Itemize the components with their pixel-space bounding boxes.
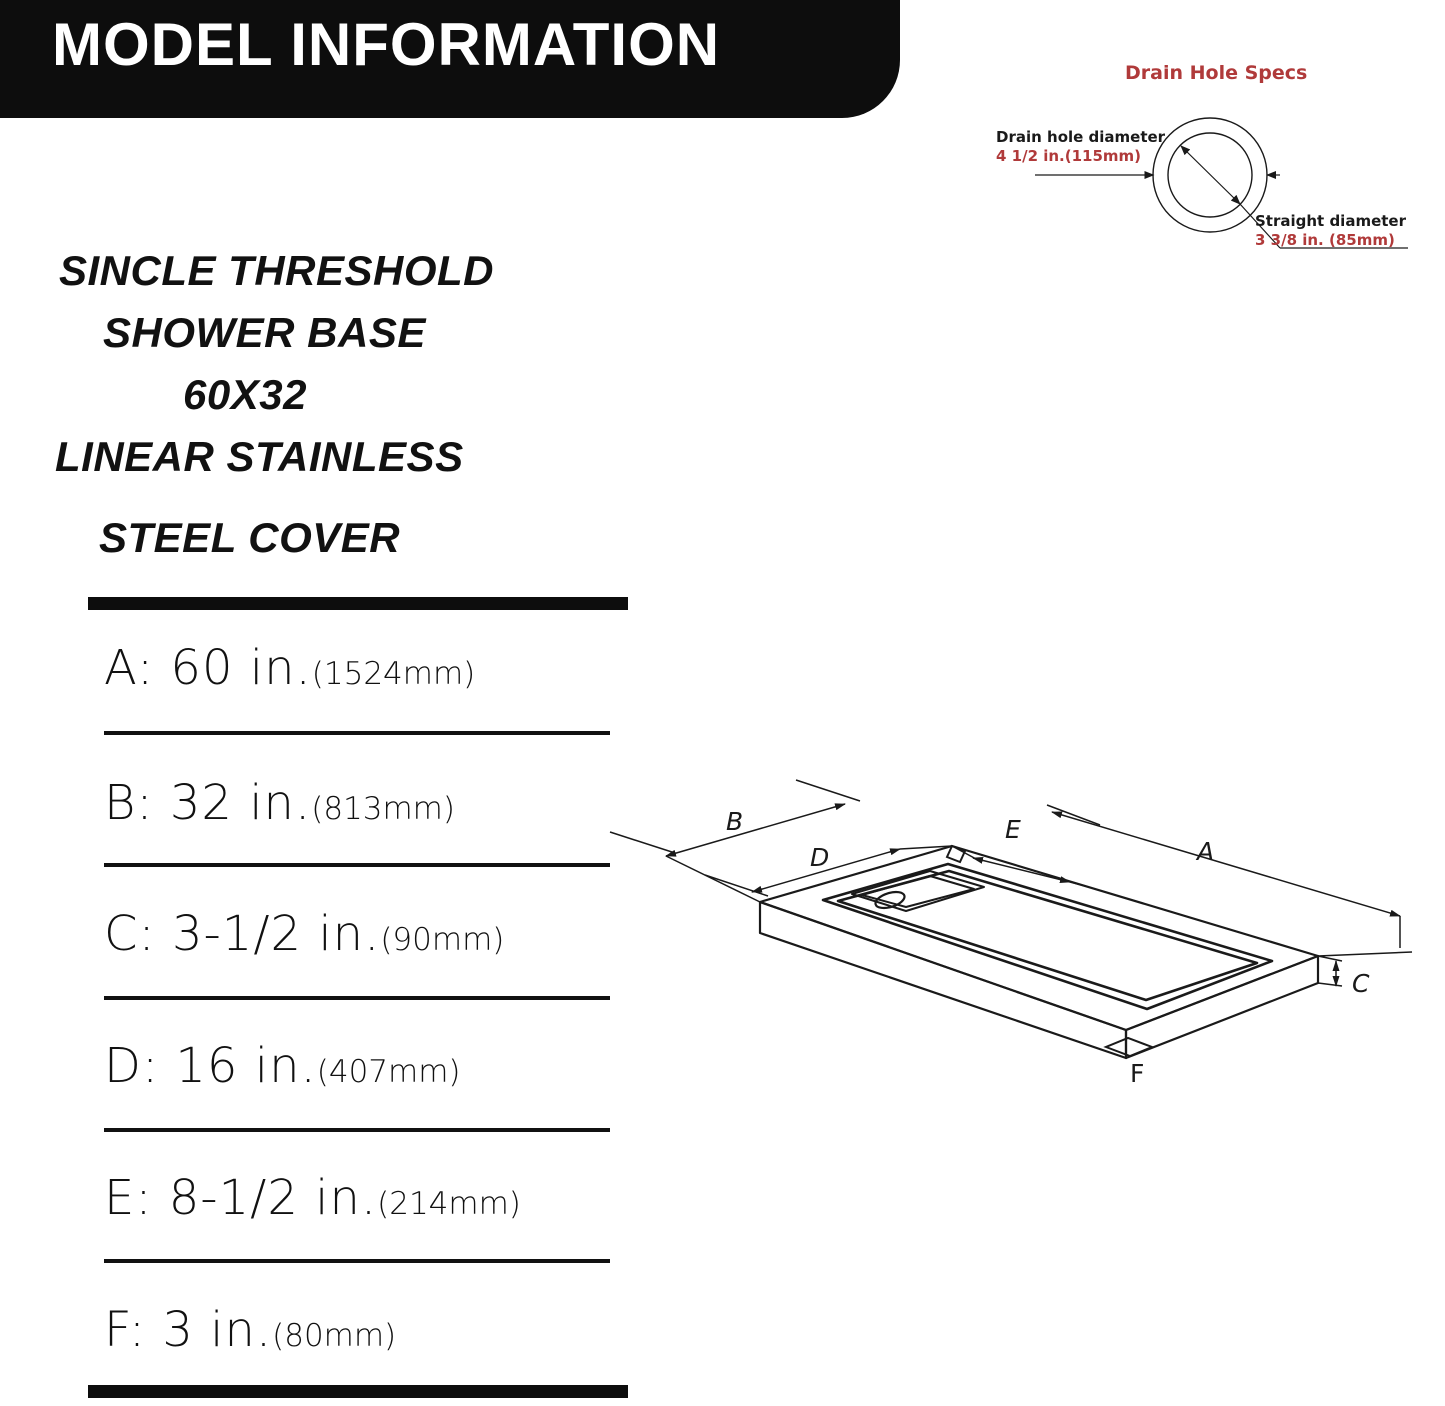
dimension-row-b-label: B: 32 in. [104,775,311,831]
dimension-row-a: A: 60 in.(1524mm) [104,640,644,696]
b-leader-left [666,856,760,902]
dimension-divider-3 [104,996,610,1000]
header-banner: MODEL INFORMATION [0,0,900,118]
callout-b: B [726,807,743,836]
dimension-row-a-label: A: 60 in. [104,640,312,696]
drain-specs-title: Drain Hole Specs [1125,62,1307,84]
c-leader-bottom [1318,983,1342,986]
inner-diameter-arrow [1181,146,1240,204]
drain-outer-label-value: 4 1/2 in.(115mm) [996,147,1165,166]
dimension-row-d: D: 16 in.(407mm) [104,1038,644,1094]
isometric-shower-base-drawing: B D E A C F [600,770,1445,1100]
dimension-row-f-metric: (80mm) [272,1318,396,1354]
callout-e: E [1005,815,1021,844]
dimension-row-e-label: E: 8-1/2 in. [104,1170,377,1226]
dimension-row-e: E: 8-1/2 in.(214mm) [104,1170,644,1226]
b-extension-left [610,832,675,853]
callout-d: D [810,843,829,872]
dimension-row-f-label: F: 3 in. [104,1302,272,1358]
callout-a: A [1195,837,1214,866]
dimension-row-e-metric: (214mm) [377,1186,521,1222]
dimension-divider-1 [104,731,610,735]
c-leader-top [1318,956,1342,961]
dimension-table-top-bar [88,597,628,610]
a-dimension-line [1052,812,1400,916]
drain-inner-label: Straight diameter 3 3/8 in. (85mm) [1255,212,1406,250]
callout-c: C [1352,969,1370,998]
dimension-divider-5 [104,1259,610,1263]
page-title: MODEL INFORMATION [52,10,720,79]
dimension-divider-4 [104,1128,610,1132]
dimension-row-c-label: C: 3-1/2 in. [104,906,380,962]
drain-inner-label-value: 3 3/8 in. (85mm) [1255,231,1406,250]
dimension-row-d-metric: (407mm) [317,1054,461,1090]
dimension-divider-2 [104,863,610,867]
e-extension-right [1047,805,1100,825]
product-title-block: SINCLE THRESHOLD SHOWER BASE 60X32 LINEA… [55,240,615,569]
dimension-row-d-label: D: 16 in. [104,1038,317,1094]
dimension-row-c: C: 3-1/2 in.(90mm) [104,906,644,962]
d-extension-left [705,875,768,896]
drain-outer-label-name: Drain hole diameter [996,128,1165,147]
drain-outer-label: Drain hole diameter 4 1/2 in.(115mm) [996,128,1165,166]
callout-f: F [1130,1059,1144,1088]
e-dimension-line [973,858,1070,882]
dimension-row-a-metric: (1524mm) [312,656,475,692]
product-title-line-5: STEEL COVER [55,507,615,569]
b-extension-right [796,780,860,801]
product-title-line-4: LINEAR STAINLESS [55,426,615,488]
shower-base-svg: B D E A C F [600,770,1445,1100]
drain-inner-label-name: Straight diameter [1255,212,1406,231]
drain-hole-specs-diagram: Drain Hole Specs Dra [980,52,1420,267]
dimension-row-f: F: 3 in.(80mm) [104,1302,644,1358]
dimension-row-b-metric: (813mm) [311,791,455,827]
a-leader-bottom [1318,952,1412,956]
product-title-line-1: SINCLE THRESHOLD [55,240,615,302]
dimension-row-b: B: 32 in.(813mm) [104,775,644,831]
base-front-left-face [760,902,1126,1058]
dimension-row-c-metric: (90mm) [380,922,504,958]
product-title-line-2: SHOWER BASE [55,302,615,364]
dimension-table-bottom-bar [88,1385,628,1398]
product-title-line-3: 60X32 [55,364,615,426]
